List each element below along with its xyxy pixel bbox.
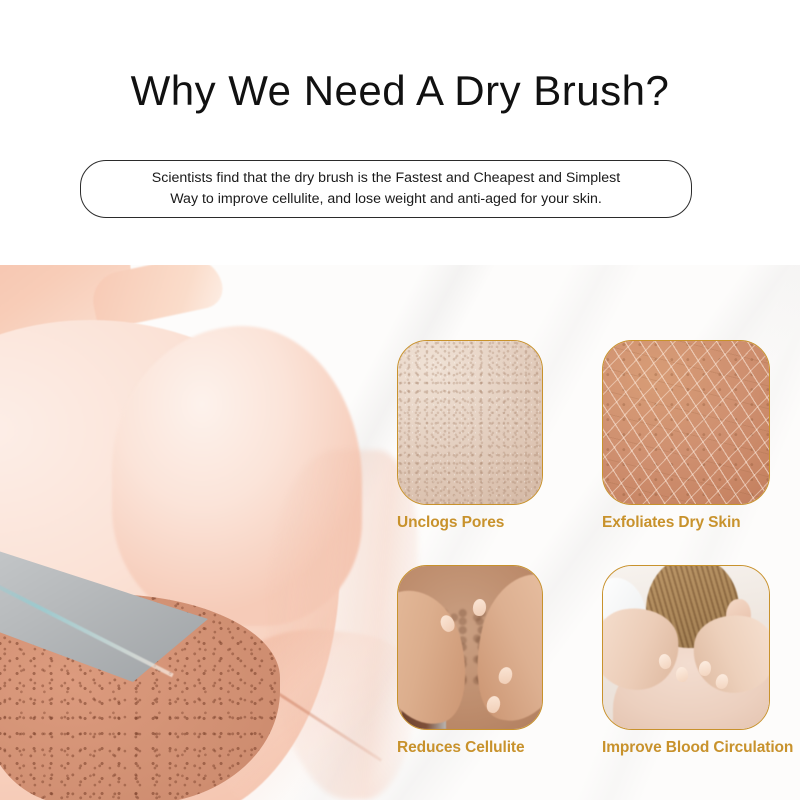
skin-peel-reveal <box>0 540 280 800</box>
feature-image-improve-blood-circulation <box>602 565 770 730</box>
header-band: Why We Need A Dry Brush? Scientists find… <box>0 0 800 265</box>
subtitle-line-2: Way to improve cellulite, and lose weigh… <box>170 189 602 210</box>
feature-caption: Unclogs Pores <box>397 514 575 532</box>
subtitle-callout-box: Scientists find that the dry brush is th… <box>80 160 692 218</box>
feature-caption: Exfoliates Dry Skin <box>602 514 780 532</box>
model-photo <box>0 258 420 800</box>
page-title: Why We Need A Dry Brush? <box>0 70 800 112</box>
dry-cracked-skin-texture <box>603 341 769 504</box>
feature-card-reduces-cellulite: Reduces Cellulite <box>397 565 575 757</box>
feature-caption: Reduces Cellulite <box>397 739 575 757</box>
clogged-pores-skin-texture <box>398 341 542 504</box>
feature-image-unclogs-pores <box>397 340 543 505</box>
feature-card-improve-blood-circulation: Improve Blood Circulation <box>602 565 780 757</box>
feature-caption: Improve Blood Circulation <box>602 739 780 757</box>
feature-card-unclogs-pores: Unclogs Pores <box>397 340 575 532</box>
feature-image-reduces-cellulite <box>397 565 543 730</box>
feature-grid: Unclogs Pores Exfoliates Dry Skin Reduce… <box>397 340 789 770</box>
feature-image-exfoliates-dry-skin <box>602 340 770 505</box>
subtitle-line-1: Scientists find that the dry brush is th… <box>152 168 620 189</box>
feature-card-exfoliates-dry-skin: Exfoliates Dry Skin <box>602 340 780 532</box>
